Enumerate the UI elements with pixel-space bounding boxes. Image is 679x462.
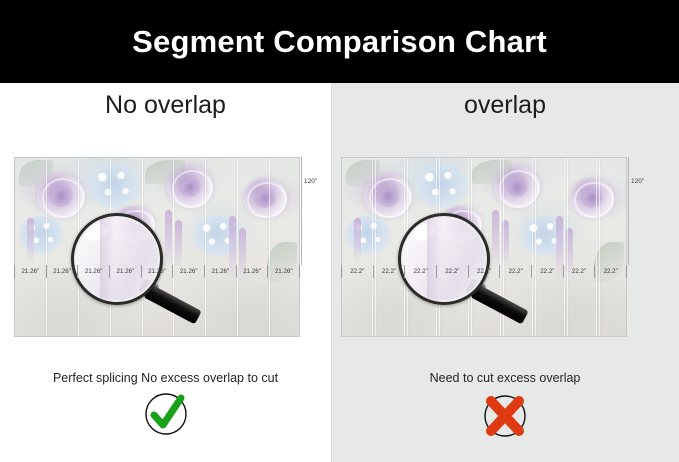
width-scale-overlap: 22.2" 22.2" 22.2" 22.2" 22.2" 22.2" 22.2… xyxy=(341,265,627,278)
magnifier-lens xyxy=(71,213,163,305)
panel-overlap: overlap xyxy=(331,83,679,462)
green-check-icon xyxy=(143,391,189,437)
segment-width-label: 22.2" xyxy=(594,265,627,278)
segment-width-label: 22.2" xyxy=(341,265,373,278)
rose-flower-icon xyxy=(243,178,287,218)
lavender-sprig-icon xyxy=(492,210,499,266)
mural-figure-no-overlap xyxy=(14,157,300,337)
caption-no-overlap: Perfect splicing No excess overlap to cu… xyxy=(0,371,331,385)
height-rule xyxy=(628,157,629,265)
rose-flower-icon xyxy=(570,178,614,218)
panel-divider xyxy=(331,83,332,462)
wallpaper-mural-image xyxy=(14,157,300,337)
hydrangea-cluster-icon xyxy=(85,164,143,208)
segment-width-label: 22.2" xyxy=(531,265,563,278)
hydrangea-cluster-icon xyxy=(344,216,392,254)
wallpaper-mural-image xyxy=(341,157,627,337)
caption-overlap: Need to cut excess overlap xyxy=(331,371,679,385)
segment-width-label: 21.26" xyxy=(109,265,141,278)
segment-width-label: 21.26" xyxy=(204,265,236,278)
height-label-no-overlap: 120" xyxy=(304,178,317,185)
lavender-sprig-icon xyxy=(27,218,34,262)
segment-width-label: 21.26" xyxy=(14,265,46,278)
page-title: Segment Comparison Chart xyxy=(132,24,547,60)
segment-width-label: 21.26" xyxy=(77,265,109,278)
segment-width-label: 21.26" xyxy=(141,265,173,278)
segment-width-label: 22.2" xyxy=(499,265,531,278)
height-label-overlap: 120" xyxy=(631,178,644,185)
segment-width-label: 21.26" xyxy=(172,265,204,278)
comparison-panels: No overlap xyxy=(0,83,679,462)
segment-width-label: 21.26" xyxy=(46,265,78,278)
panel-no-overlap: No overlap xyxy=(0,83,331,462)
verdict-overlap xyxy=(331,391,679,441)
lavender-sprig-icon xyxy=(502,220,509,268)
segment-width-label: 22.2" xyxy=(404,265,436,278)
segment-width-label: 22.2" xyxy=(436,265,468,278)
magnifier-lens xyxy=(398,213,490,305)
red-cross-icon xyxy=(480,391,530,441)
magnifying-glass-icon xyxy=(71,213,163,305)
segment-width-label: 21.26" xyxy=(267,265,300,278)
panel-heading-overlap: overlap xyxy=(331,91,679,120)
hydrangea-cluster-icon xyxy=(412,164,470,208)
magnifying-glass-icon xyxy=(398,213,490,305)
lavender-sprig-icon xyxy=(165,210,172,266)
segment-comparison-page: Segment Comparison Chart No overlap xyxy=(0,0,679,462)
magnifier-handle xyxy=(143,284,201,324)
segment-width-label: 21.26" xyxy=(236,265,268,278)
hydrangea-cluster-icon xyxy=(17,216,65,254)
height-rule xyxy=(301,157,302,265)
width-scale-no-overlap: 21.26" 21.26" 21.26" 21.26" 21.26" 21.26… xyxy=(14,265,300,278)
mural-figure-overlap xyxy=(341,157,627,337)
title-bar: Segment Comparison Chart xyxy=(0,0,679,83)
segment-width-label: 22.2" xyxy=(373,265,405,278)
segment-width-label: 22.2" xyxy=(468,265,500,278)
segment-width-label: 22.2" xyxy=(563,265,595,278)
magnifier-handle xyxy=(470,284,528,324)
lavender-sprig-icon xyxy=(175,220,182,268)
panel-heading-no-overlap: No overlap xyxy=(0,91,331,120)
verdict-no-overlap xyxy=(0,391,331,437)
lavender-sprig-icon xyxy=(354,218,361,262)
